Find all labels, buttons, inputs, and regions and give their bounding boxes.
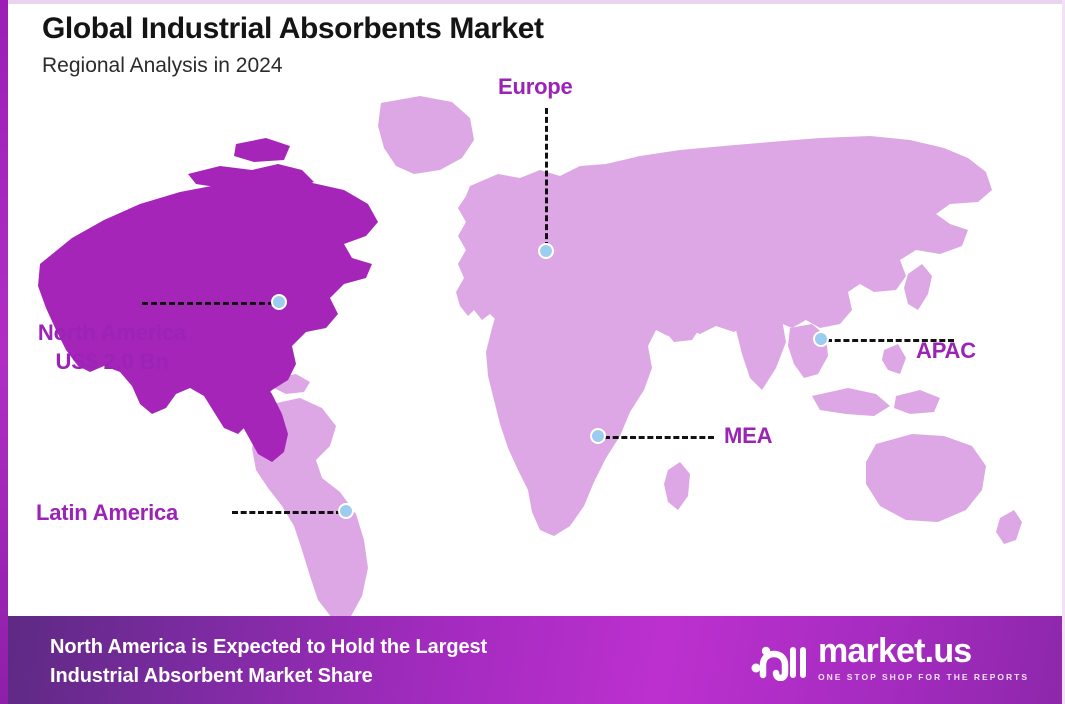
region-label-mea: MEA [724,423,772,448]
marker-apac[interactable] [813,331,829,347]
marker-europe[interactable] [538,243,554,259]
brand-wordmark: market.us ONE STOP SHOP FOR THE REPORTS [818,634,1029,682]
leader-line-north-america [142,302,274,305]
top-border [0,0,1065,4]
marker-mea[interactable] [590,428,606,444]
market-us-logo-icon [750,635,808,681]
header: Global Industrial Absorbents Market Regi… [42,12,544,78]
page-title: Global Industrial Absorbents Market [42,12,544,47]
leader-line-latin-america [232,511,342,514]
brand-tagline: ONE STOP SHOP FOR THE REPORTS [818,672,1029,682]
brand-name: market.us [818,634,1029,668]
left-accent-border [0,0,8,704]
region-label-north-america-name: North America [38,320,186,345]
footer-callout-line2: Industrial Absorbent Market Share [50,662,487,691]
page-subtitle: Regional Analysis in 2024 [42,53,544,78]
region-label-europe: Europe [498,74,573,99]
region-label-north-america: North America US$ 2.0 Bn [12,320,212,375]
region-label-latin-america: Latin America [36,500,178,525]
map-base-continents [252,96,1022,618]
footer-callout-line1: North America is Expected to Hold the La… [50,633,487,662]
marker-north-america[interactable] [271,294,287,310]
brand-logo[interactable]: market.us ONE STOP SHOP FOR THE REPORTS [750,634,1029,682]
footer-callout: North America is Expected to Hold the La… [50,633,487,691]
marker-latin-america[interactable] [338,503,354,519]
leader-line-europe [545,108,548,248]
footer-banner: North America is Expected to Hold the La… [0,616,1065,704]
leader-line-mea [604,436,714,439]
region-label-apac: APAC [916,338,976,363]
infographic-root: Global Industrial Absorbents Market Regi… [0,0,1065,704]
map-highlight-north-america [38,138,378,462]
region-value-north-america: US$ 2.0 Bn [12,349,212,374]
